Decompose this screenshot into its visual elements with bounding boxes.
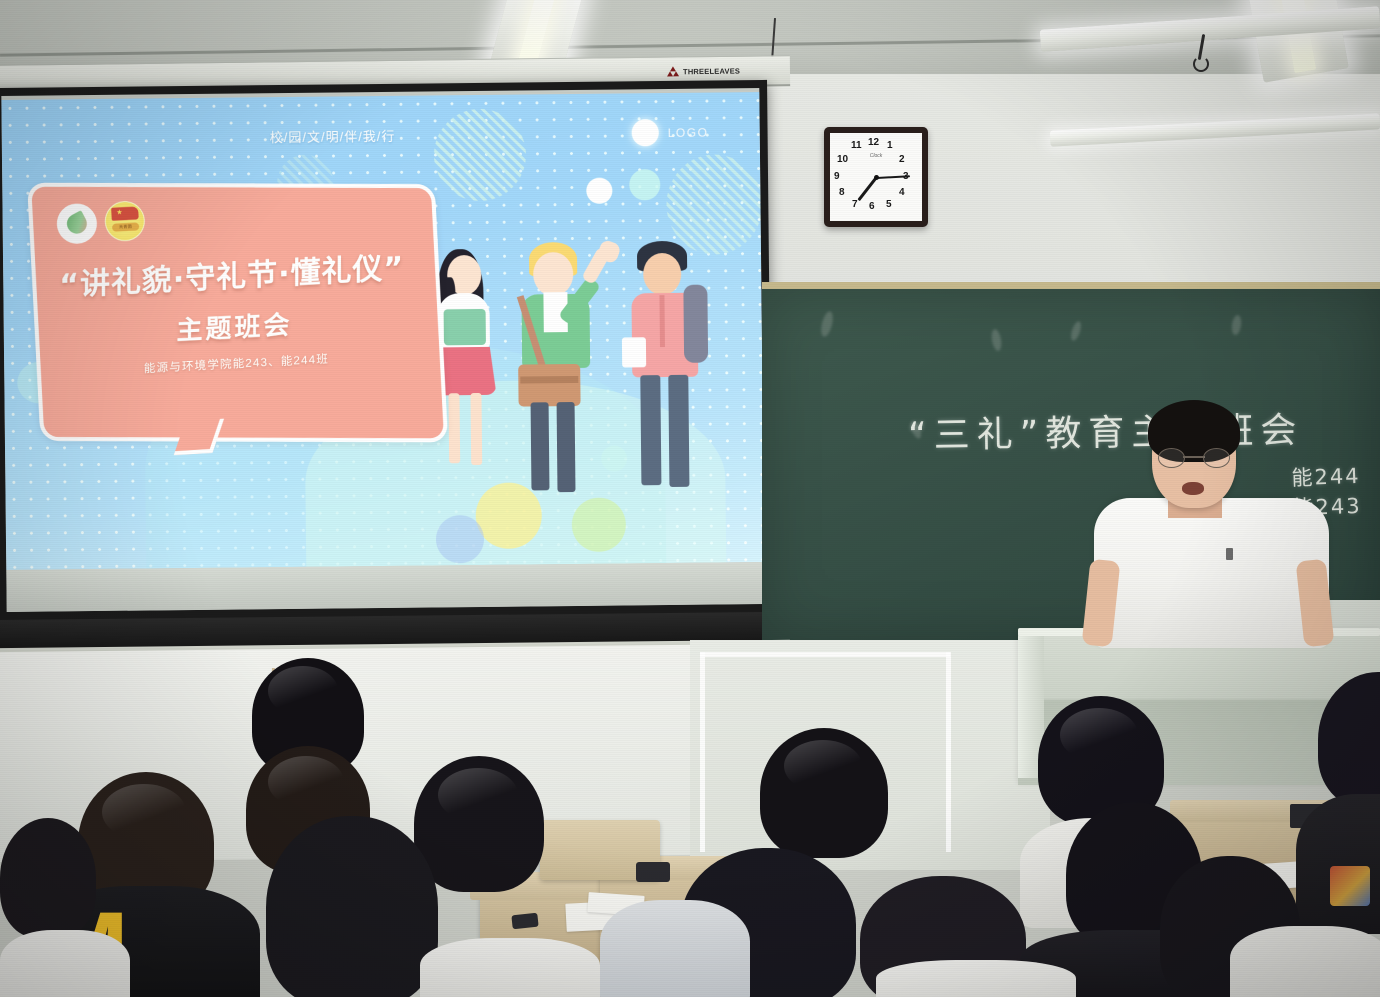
clock-numeral: 1: [887, 140, 893, 151]
clock-numeral: 4: [899, 187, 905, 198]
classroom-photo-scene: THREELEAVES 校/园/文/明/伴/我/行: [0, 0, 1380, 997]
slide-illustration: [403, 240, 736, 565]
slide-tagline: 校/园/文/明/伴/我/行: [270, 126, 396, 146]
slide-banner-content: ★ 共青团 “讲礼貌·守礼节·懂礼仪” 主题班会 能源与环境学院能243、能24…: [27, 173, 440, 444]
blackboard-title: “三礼”教育主题班会: [908, 401, 1304, 459]
presenter-mouth: [1182, 482, 1204, 495]
youth-league-emblem-icon: ★ 共青团: [104, 200, 146, 242]
blackboard-class-line: 能244: [1291, 461, 1361, 493]
projection-screen-surface: 校/园/文/明/伴/我/行 LOGO: [1, 88, 764, 612]
logo-circle-icon: [632, 119, 659, 146]
three-leaves-logo-icon: [668, 66, 679, 76]
wall-clock: Clock 12 1 2 3 4 5 6 7 8 9 10 11: [824, 127, 928, 227]
student-torso: [420, 938, 600, 997]
youth-league-emblem-label: 共青团: [112, 222, 139, 231]
clock-numeral: 10: [837, 154, 848, 165]
clock-numeral: 9: [834, 171, 840, 182]
decor-dot: [629, 169, 660, 200]
decor-circle-striped: [433, 108, 526, 201]
student-torso: [1296, 794, 1380, 934]
clock-center-pin: [874, 175, 879, 180]
university-emblem-icon: [56, 203, 98, 245]
projector-brand-label: THREELEAVES: [683, 66, 740, 76]
clock-numeral: 5: [886, 199, 892, 210]
wall-panel-seam: [946, 652, 951, 852]
decor-dot: [586, 178, 612, 204]
glasses-icon: [1158, 448, 1230, 466]
mobile-phone: [511, 913, 538, 930]
shirt-logo-icon: [1226, 548, 1233, 560]
clock-numeral: 8: [839, 187, 845, 198]
slide-subtitle: 主题班会: [35, 297, 434, 355]
slide-emblems: ★ 共青团: [56, 200, 146, 245]
wall-panel-seam: [700, 652, 705, 852]
presenter-shirt: [1094, 498, 1329, 648]
cable-hook-icon: [1193, 56, 1209, 72]
clock-numeral: 2: [899, 154, 905, 165]
clock-numeral: 11: [851, 140, 862, 151]
student-torso: [876, 960, 1076, 997]
student-head: [266, 816, 438, 997]
student-torso: [600, 900, 750, 997]
mobile-phone: [636, 862, 670, 882]
clock-hour-hand: [858, 177, 877, 201]
projector-brand: THREELEAVES: [668, 66, 740, 77]
slide-logo-placeholder: LOGO: [632, 119, 709, 147]
student-head: [0, 818, 96, 938]
clock-brand-mark: Clock: [870, 153, 883, 159]
slide-logo-label: LOGO: [668, 125, 709, 139]
slide-title: “讲礼貌·守礼节·懂礼仪”: [32, 241, 431, 306]
clock-numeral: 12: [868, 137, 879, 148]
slide-letterbox: [6, 562, 764, 612]
presentation-slide: 校/园/文/明/伴/我/行 LOGO: [1, 92, 764, 570]
clock-numeral: 7: [852, 199, 858, 210]
student-torso: [0, 930, 130, 997]
student-torso: [1230, 926, 1380, 997]
wall-panel-seam: [700, 652, 950, 657]
clock-numeral: 6: [869, 201, 875, 212]
shirt-graphic: [1330, 866, 1370, 906]
